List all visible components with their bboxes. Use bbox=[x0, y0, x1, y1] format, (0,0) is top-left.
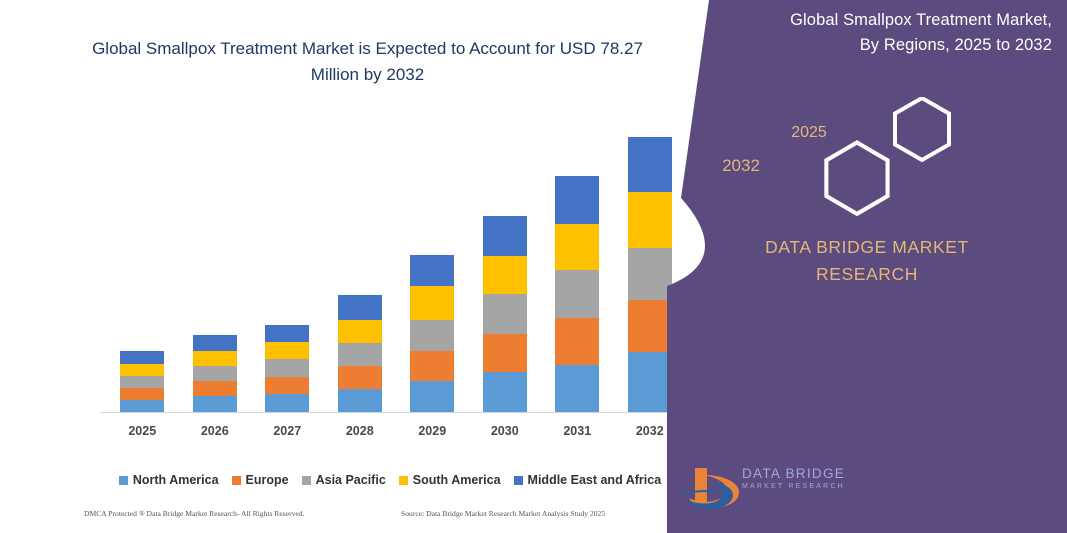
bar-segment-asia-pacific[interactable] bbox=[628, 248, 672, 300]
x-axis-label-2028: 2028 bbox=[325, 424, 395, 438]
legend-swatch-icon bbox=[302, 476, 311, 485]
legend-label: South America bbox=[413, 473, 501, 487]
right-panel-title-line1: Global Smallpox Treatment Market, bbox=[707, 8, 1052, 33]
bar-segment-middle-east-and-africa[interactable] bbox=[265, 325, 309, 342]
bar-segment-middle-east-and-africa[interactable] bbox=[483, 216, 527, 256]
legend-item-north-america[interactable]: North America bbox=[119, 473, 219, 487]
chart-legend: North AmericaEuropeAsia PacificSouth Ame… bbox=[100, 473, 680, 487]
bar-segment-north-america[interactable] bbox=[265, 394, 309, 412]
dbmr-logo-name: DATA BRIDGE bbox=[742, 466, 867, 481]
bar-segment-middle-east-and-africa[interactable] bbox=[628, 137, 672, 192]
right-branding-panel: Global Smallpox Treatment Market, By Reg… bbox=[667, 0, 1067, 533]
bar-group-2031[interactable] bbox=[555, 176, 599, 412]
legend-item-middle-east-and-africa[interactable]: Middle East and Africa bbox=[514, 473, 662, 487]
bar-segment-north-america[interactable] bbox=[120, 400, 164, 412]
bar-segment-asia-pacific[interactable] bbox=[555, 270, 599, 318]
bar-segment-middle-east-and-africa[interactable] bbox=[555, 176, 599, 224]
footer-copyright: DMCA Protected ® Data Bridge Market Rese… bbox=[84, 509, 304, 518]
bar-segment-europe[interactable] bbox=[410, 351, 454, 381]
bar-segment-north-america[interactable] bbox=[555, 365, 599, 412]
legend-swatch-icon bbox=[514, 476, 523, 485]
bar-segment-asia-pacific[interactable] bbox=[483, 294, 527, 334]
bar-segment-middle-east-and-africa[interactable] bbox=[193, 335, 237, 351]
footer-source: Source: Data Bridge Market Research Mark… bbox=[401, 509, 605, 518]
bar-segment-north-america[interactable] bbox=[628, 352, 672, 412]
bar-group-2026[interactable] bbox=[193, 335, 237, 412]
legend-label: Middle East and Africa bbox=[528, 473, 662, 487]
brand-line2: RESEARCH bbox=[687, 261, 1047, 288]
bar-group-2029[interactable] bbox=[410, 255, 454, 412]
bar-segment-south-america[interactable] bbox=[338, 320, 382, 343]
bar-segment-europe[interactable] bbox=[120, 388, 164, 400]
bar-group-2030[interactable] bbox=[483, 216, 527, 412]
bar-segment-asia-pacific[interactable] bbox=[120, 376, 164, 388]
dbmr-logo-subtitle: MARKET RESEARCH bbox=[742, 481, 867, 493]
brand-wordmark: DATA BRIDGE MARKET RESEARCH bbox=[687, 234, 1047, 288]
stacked-bar-chart bbox=[100, 120, 680, 412]
bar-segment-north-america[interactable] bbox=[410, 381, 454, 412]
x-axis-label-2030: 2030 bbox=[470, 424, 540, 438]
bar-segment-north-america[interactable] bbox=[483, 372, 527, 412]
bar-segment-europe[interactable] bbox=[338, 366, 382, 389]
hexagon-2025 bbox=[895, 98, 949, 160]
bar-segment-asia-pacific[interactable] bbox=[338, 343, 382, 366]
bar-segment-south-america[interactable] bbox=[410, 286, 454, 320]
x-axis-label-2032: 2032 bbox=[615, 424, 685, 438]
x-axis-line bbox=[100, 412, 680, 413]
bar-group-2025[interactable] bbox=[120, 351, 164, 412]
legend-item-asia-pacific[interactable]: Asia Pacific bbox=[302, 473, 386, 487]
bar-segment-south-america[interactable] bbox=[193, 351, 237, 366]
bar-segment-middle-east-and-africa[interactable] bbox=[410, 255, 454, 286]
legend-swatch-icon bbox=[119, 476, 128, 485]
x-axis-label-2026: 2026 bbox=[180, 424, 250, 438]
bar-group-2028[interactable] bbox=[338, 295, 382, 412]
bar-segment-europe[interactable] bbox=[483, 334, 527, 372]
bar-segment-north-america[interactable] bbox=[338, 389, 382, 412]
bar-segment-europe[interactable] bbox=[555, 318, 599, 365]
brand-line1: DATA BRIDGE MARKET bbox=[687, 234, 1047, 261]
x-axis-label-2029: 2029 bbox=[397, 424, 467, 438]
hexagon-2032-label: 2032 bbox=[701, 156, 781, 176]
legend-item-europe[interactable]: Europe bbox=[232, 473, 289, 487]
bar-segment-south-america[interactable] bbox=[483, 256, 527, 294]
bar-group-2027[interactable] bbox=[265, 325, 309, 412]
x-axis-label-2031: 2031 bbox=[542, 424, 612, 438]
infographic-page: Global Smallpox Treatment Market is Expe… bbox=[0, 0, 1067, 533]
bar-segment-europe[interactable] bbox=[628, 300, 672, 352]
legend-label: North America bbox=[133, 473, 219, 487]
legend-label: Europe bbox=[246, 473, 289, 487]
legend-swatch-icon bbox=[232, 476, 241, 485]
legend-label: Asia Pacific bbox=[316, 473, 386, 487]
x-axis-label-2025: 2025 bbox=[107, 424, 177, 438]
bar-segment-asia-pacific[interactable] bbox=[265, 359, 309, 376]
chart-title: Global Smallpox Treatment Market is Expe… bbox=[70, 36, 665, 88]
right-panel-title-line2: By Regions, 2025 to 2032 bbox=[707, 33, 1052, 58]
bar-segment-europe[interactable] bbox=[193, 381, 237, 396]
bar-segment-europe[interactable] bbox=[265, 377, 309, 395]
hexagon-group bbox=[782, 97, 962, 222]
bar-segment-south-america[interactable] bbox=[120, 364, 164, 376]
bar-segment-north-america[interactable] bbox=[193, 396, 237, 412]
bar-segment-south-america[interactable] bbox=[265, 342, 309, 359]
x-axis-label-2027: 2027 bbox=[252, 424, 322, 438]
bar-group-2032[interactable] bbox=[628, 137, 672, 412]
bar-segment-middle-east-and-africa[interactable] bbox=[338, 295, 382, 320]
legend-swatch-icon bbox=[399, 476, 408, 485]
bar-segment-asia-pacific[interactable] bbox=[410, 320, 454, 351]
bar-segment-south-america[interactable] bbox=[628, 192, 672, 248]
hexagon-2032 bbox=[826, 143, 887, 214]
legend-item-south-america[interactable]: South America bbox=[399, 473, 501, 487]
dbmr-logo-text: DATA BRIDGE MARKET RESEARCH bbox=[742, 466, 867, 493]
right-panel-title: Global Smallpox Treatment Market, By Reg… bbox=[707, 8, 1052, 58]
hexagon-2025-label: 2025 bbox=[774, 124, 844, 142]
bar-segment-middle-east-and-africa[interactable] bbox=[120, 351, 164, 364]
bar-segment-asia-pacific[interactable] bbox=[193, 366, 237, 381]
bar-segment-south-america[interactable] bbox=[555, 224, 599, 270]
